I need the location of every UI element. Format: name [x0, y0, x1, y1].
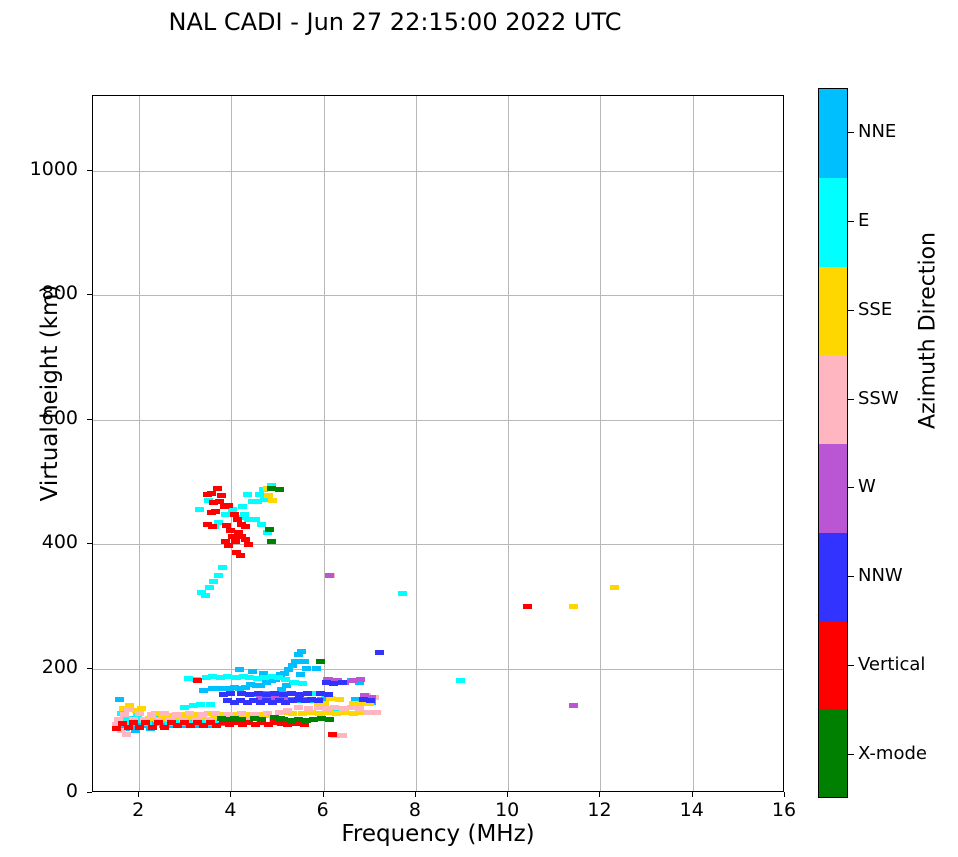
x-tick-label: 6 [293, 799, 353, 821]
colorbar-tick [848, 132, 854, 133]
colorbar-tick [848, 310, 854, 311]
colorbar-label-vertical: Vertical [858, 654, 925, 675]
data-point [297, 649, 306, 654]
x-axis-title: Frequency (MHz) [92, 821, 784, 847]
x-tick-label: 10 [477, 799, 537, 821]
data-point [122, 732, 131, 737]
data-point [201, 593, 210, 598]
y-tick-mark [87, 792, 92, 793]
data-point [120, 712, 129, 717]
colorbar-tick [848, 665, 854, 666]
x-tick-label: 2 [108, 799, 168, 821]
data-point [135, 711, 144, 716]
x-tick-mark [692, 792, 693, 797]
data-point [180, 705, 189, 710]
data-point [356, 677, 365, 682]
data-point [275, 487, 284, 492]
data-point [324, 692, 333, 697]
x-tick-label: 8 [385, 799, 445, 821]
data-point [235, 667, 244, 672]
data-point [124, 725, 133, 730]
data-point [160, 711, 169, 716]
y-tick-mark [87, 170, 92, 171]
data-point [236, 553, 245, 558]
data-point [312, 666, 321, 671]
colorbar-title: Azimuth Direction [916, 181, 941, 481]
data-point [243, 492, 252, 497]
colorbar-tick [848, 399, 854, 400]
data-point [325, 573, 334, 578]
data-point [569, 604, 578, 609]
data-point [160, 725, 169, 730]
data-point [185, 711, 194, 716]
data-point [124, 707, 133, 712]
data-point [209, 579, 218, 584]
gridline-horizontal [93, 171, 783, 172]
data-point [298, 711, 307, 716]
data-point [298, 681, 307, 686]
data-point [335, 697, 344, 702]
data-point [302, 666, 311, 671]
gridline-vertical [693, 96, 694, 791]
y-tick-mark [87, 543, 92, 544]
data-point [294, 705, 303, 710]
data-point [268, 498, 277, 503]
x-tick-label: 12 [569, 799, 629, 821]
colorbar[interactable] [818, 88, 848, 798]
colorbar-label-e: E [858, 210, 869, 231]
data-point [316, 659, 325, 664]
page-title: NAL CADI - Jun 27 22:15:00 2022 UTC [0, 8, 790, 36]
colorbar-segment-e[interactable] [819, 178, 847, 267]
data-point [224, 543, 233, 548]
data-point [219, 692, 228, 697]
colorbar-segment-vertical[interactable] [819, 622, 847, 711]
gridline-vertical [139, 96, 140, 791]
gridline-vertical [600, 96, 601, 791]
data-point [193, 678, 202, 683]
data-point [366, 698, 375, 703]
data-point [267, 539, 276, 544]
data-point [283, 708, 292, 713]
ionogram-figure: NAL CADI - Jun 27 22:15:00 2022 UTC 2468… [0, 0, 958, 857]
y-tick-label: 0 [0, 780, 78, 802]
data-point [237, 717, 246, 722]
data-point [338, 733, 347, 738]
data-point [112, 726, 121, 731]
x-tick-mark [230, 792, 231, 797]
colorbar-segment-x-mode[interactable] [819, 710, 847, 798]
plot-area[interactable] [92, 95, 784, 792]
data-point [148, 725, 157, 730]
data-point [224, 503, 233, 508]
data-point [288, 663, 297, 668]
data-point [241, 524, 250, 529]
colorbar-segment-w[interactable] [819, 444, 847, 533]
colorbar-segment-ssw[interactable] [819, 355, 847, 444]
colorbar-segment-nnw[interactable] [819, 533, 847, 622]
data-point [284, 667, 293, 672]
gridline-horizontal [93, 420, 783, 421]
data-point [372, 710, 381, 715]
data-point [217, 493, 226, 498]
data-point [296, 672, 305, 677]
data-point [303, 691, 312, 696]
gridline-horizontal [93, 544, 783, 545]
data-point [250, 716, 259, 721]
data-point [206, 702, 215, 707]
data-point [208, 524, 217, 529]
x-tick-label: 4 [200, 799, 260, 821]
data-point [218, 565, 227, 570]
gridline-horizontal [93, 295, 783, 296]
x-tick-mark [323, 792, 324, 797]
data-point [375, 650, 384, 655]
data-point [610, 585, 619, 590]
data-point [135, 725, 144, 730]
data-point [248, 669, 257, 674]
y-tick-mark [87, 294, 92, 295]
y-tick-mark [87, 419, 92, 420]
data-point [195, 507, 204, 512]
data-point [304, 706, 313, 711]
colorbar-label-nnw: NNW [858, 565, 903, 586]
colorbar-tick [848, 221, 854, 222]
x-tick-mark [784, 792, 785, 797]
y-tick-label: 200 [0, 656, 78, 678]
data-point [196, 702, 205, 707]
gridline-vertical [324, 96, 325, 791]
colorbar-tick [848, 576, 854, 577]
x-tick-label: 16 [754, 799, 814, 821]
data-point [115, 697, 124, 702]
x-tick-mark [138, 792, 139, 797]
colorbar-segment-sse[interactable] [819, 267, 847, 356]
colorbar-tick [848, 754, 854, 755]
x-tick-label: 14 [662, 799, 722, 821]
data-point [214, 573, 223, 578]
data-point [211, 509, 220, 514]
colorbar-label-w: W [858, 476, 876, 497]
gridline-vertical [416, 96, 417, 791]
data-point [328, 732, 337, 737]
data-point [276, 716, 285, 721]
data-point [205, 585, 214, 590]
colorbar-label-nne: NNE [858, 121, 896, 142]
gridline-vertical [508, 96, 509, 791]
data-point [398, 591, 407, 596]
y-tick-mark [87, 668, 92, 669]
x-tick-mark [415, 792, 416, 797]
data-point [238, 504, 247, 509]
data-point [325, 717, 334, 722]
colorbar-label-x-mode: X-mode [858, 743, 927, 764]
data-point [265, 527, 274, 532]
gridline-horizontal [93, 669, 783, 670]
data-point [213, 486, 222, 491]
data-point [207, 491, 216, 496]
data-point [338, 680, 347, 685]
colorbar-label-ssw: SSW [858, 388, 899, 409]
data-point [456, 678, 465, 683]
y-axis-title: Virtual height (km) [37, 143, 63, 643]
x-tick-mark [599, 792, 600, 797]
data-point [569, 703, 578, 708]
colorbar-segment-nne[interactable] [819, 89, 847, 178]
data-point [523, 604, 532, 609]
data-point [300, 659, 309, 664]
x-tick-mark [507, 792, 508, 797]
data-point [314, 698, 323, 703]
data-point [244, 542, 253, 547]
colorbar-tick [848, 487, 854, 488]
colorbar-label-sse: SSE [858, 299, 892, 320]
